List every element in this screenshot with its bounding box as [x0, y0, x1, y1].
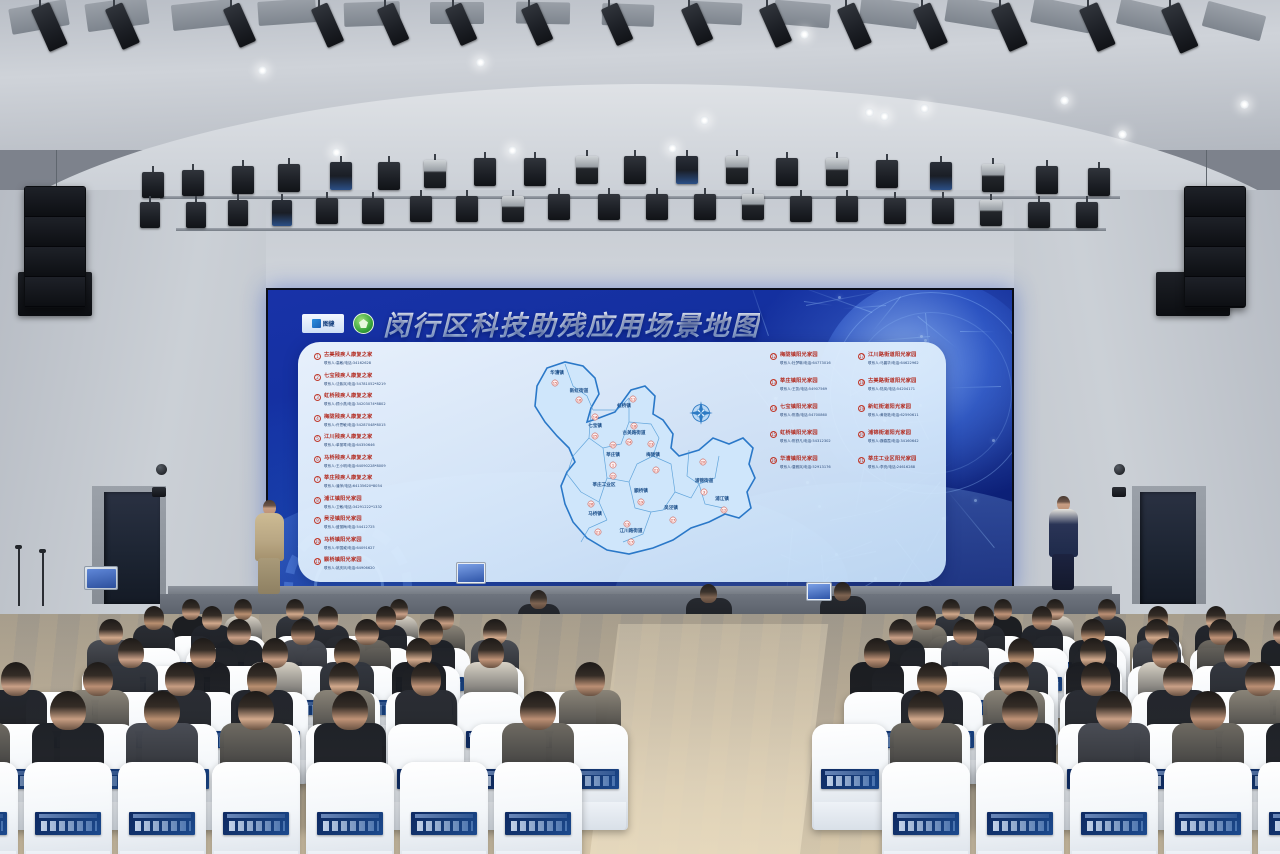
map-pin[interactable]: 11	[630, 396, 636, 402]
stage-light-fixture	[680, 0, 698, 48]
stage-light-fixture	[836, 190, 858, 224]
legend-entry[interactable]: 21莘庄工业区阳光家园联系人:李亮/电话:24616288	[858, 456, 946, 470]
audience-member-head	[286, 599, 304, 620]
audience-member-head	[575, 662, 605, 696]
chair-placard	[35, 812, 102, 835]
ceiling-downlight	[880, 112, 889, 121]
led-display-screen: 图健 闵行区科技助残应用场景地图 1古美残疾人康复之家联系人:高敏/电话:341…	[266, 288, 1014, 594]
audience-member-head	[118, 638, 144, 668]
stage-light-fixture	[410, 190, 432, 224]
stage-light-fixture	[646, 188, 668, 222]
audience-member-head	[234, 599, 252, 620]
legend-entry-number: 20	[858, 431, 865, 438]
map-pin-number: 3	[703, 490, 705, 494]
audience-chair[interactable]	[1070, 762, 1158, 854]
right-doorway[interactable]	[1140, 492, 1196, 604]
audience-member-head	[908, 691, 943, 730]
chair-placard	[505, 812, 572, 835]
legend-entry-number: 18	[858, 379, 865, 386]
stage-light-fixture	[624, 150, 646, 186]
map-svg: 华漕镇新虹街道虹桥镇七宝镇古美路街道莘庄镇梅陇镇浦锦街道莘庄工业区颛桥镇浦江镇马…	[503, 352, 763, 577]
ceiling-downlight	[920, 104, 929, 113]
speaker-rig	[56, 150, 57, 188]
chair-placard	[0, 812, 7, 835]
map-pin-number: 20	[701, 460, 706, 464]
map-pin[interactable]: 3	[701, 489, 707, 495]
legend-entry-number: 21	[858, 457, 865, 464]
map-pin-number: 14	[593, 415, 598, 419]
ceiling-downlight	[508, 146, 517, 155]
stage-light-fixture	[182, 164, 204, 198]
audience-member-head	[478, 638, 504, 668]
legend-entry-contact: 联系人:李亮/电话:24616288	[868, 464, 946, 470]
audience-member-head	[318, 606, 339, 629]
stage-light-fixture	[376, 0, 394, 48]
chair-placard	[893, 812, 960, 835]
audience-member-head	[1224, 638, 1250, 668]
stage-light-fixture	[378, 156, 400, 192]
stage-light-fixture	[982, 158, 1004, 194]
map-pin-number: 13	[625, 522, 630, 526]
presenter-torso	[1049, 509, 1078, 557]
page-title: 闵行区科技助残应用场景地图	[383, 304, 760, 343]
map-pin[interactable]: 20	[700, 459, 706, 465]
stage-light-fixture	[30, 0, 50, 54]
audience-chair[interactable]	[0, 762, 18, 854]
legend-entry-title: 古美路街道阳光家园	[868, 378, 917, 385]
map-town-label: 马桥镇	[588, 510, 602, 517]
audience-chair[interactable]	[306, 762, 394, 854]
chair-placard	[987, 812, 1054, 835]
stage-light-fixture	[186, 196, 206, 230]
map-town-label: 华漕镇	[550, 369, 564, 376]
audience-member-head	[1032, 606, 1053, 629]
map-pin-number: 26	[589, 502, 594, 506]
mesh-line	[960, 331, 996, 332]
ceiling-downlight	[476, 58, 485, 67]
speaker-rig	[1206, 150, 1207, 188]
stage-light-fixture	[694, 188, 716, 222]
chair-placard	[317, 812, 384, 835]
map-pin[interactable]: 13	[624, 521, 630, 527]
legend-entry-title: 浦锦街道阳光家园	[868, 430, 911, 437]
microphone-stand	[42, 552, 44, 606]
audience-member-head	[144, 606, 165, 629]
legend-entry-title: 莘庄工业区阳光家园	[868, 456, 917, 463]
stage-light-fixture	[548, 188, 570, 222]
stage-light-fixture	[424, 154, 446, 190]
audience-member-head	[50, 691, 85, 730]
audience-member-head	[1096, 691, 1131, 730]
cctv-camera-icon	[152, 487, 166, 497]
microphone-head	[39, 549, 46, 553]
audience-member-head	[864, 638, 890, 668]
stage-light-fixture	[576, 150, 598, 186]
audience-chair[interactable]	[400, 762, 488, 854]
map-town-label: 江川路街道	[620, 527, 643, 534]
map-pin-number: 1	[612, 463, 614, 467]
front-row-guest-head	[700, 584, 717, 603]
stage-light-fixture	[912, 0, 931, 52]
ceiling-downlight	[865, 108, 874, 117]
map-town-label: 浦江镇	[715, 495, 729, 502]
stage-light-fixture	[600, 0, 618, 48]
map-pin[interactable]: 25	[592, 433, 598, 439]
audience-member-head	[182, 599, 200, 620]
phone-recording[interactable]	[456, 562, 486, 584]
stage-light-fixture	[330, 156, 352, 192]
audience-chair[interactable]	[118, 762, 206, 854]
presenter-left	[252, 500, 286, 596]
stage-light-fixture	[726, 150, 748, 186]
legend-entry[interactable]: 19新虹街道阳光家园联系人:黄艳艳/电话:62590611	[858, 404, 946, 418]
audience-member-head	[190, 638, 216, 668]
district-outline	[535, 362, 755, 554]
audience-member-head	[1190, 691, 1225, 730]
cctv-dome-icon	[156, 464, 167, 475]
map-pin[interactable]: 1	[610, 462, 616, 468]
content-panel: 1古美残疾人康复之家联系人:高敏/电话:341626282七宝残疾人康复之家联系…	[298, 342, 946, 582]
stage-light-fixture	[232, 160, 254, 196]
audience-member-head	[227, 619, 250, 645]
ceiling-downlight	[1060, 96, 1069, 105]
screen-title-row: 图健 闵行区科技助残应用场景地图	[302, 304, 760, 343]
legend-entry[interactable]: 17江川路街道阳光家园联系人:马晨华/电话:64622962	[858, 352, 946, 366]
stage-light-fixture	[456, 190, 478, 224]
stage-light-fixture	[884, 192, 906, 226]
map-pin[interactable]: 18	[631, 423, 637, 429]
stage-light-fixture	[1078, 0, 1098, 54]
map-pin-number: 19	[639, 500, 644, 504]
stage-light-fixture	[1076, 196, 1098, 230]
stage-light-fixture	[310, 0, 328, 50]
mesh-line	[871, 297, 901, 334]
audience-member-head	[83, 662, 113, 696]
stage-light-fixture	[520, 0, 538, 48]
audience-member-head	[144, 691, 179, 730]
map-pin-number: 22	[611, 474, 616, 478]
audience-member-head	[332, 691, 367, 730]
legend-entry-number: 17	[858, 353, 865, 360]
legend-entry-contact: 联系人:魏春霞/电话:34160642	[868, 438, 946, 444]
chair-placard	[1175, 812, 1242, 835]
audience-member-head	[994, 599, 1012, 620]
map-pin-number: 21	[596, 530, 601, 534]
audience-member-head	[355, 619, 378, 645]
lighting-truss-lower	[176, 228, 1106, 231]
stage-light-fixture	[676, 150, 698, 186]
map-pin[interactable]: 27	[670, 517, 676, 523]
map-pin-number: 16	[577, 398, 582, 402]
stage-light-fixture	[990, 0, 1010, 54]
mesh-line	[946, 386, 1001, 388]
chair-placard	[1081, 812, 1148, 835]
presenter-lower	[258, 558, 280, 594]
legend-entry-number: 19	[858, 405, 865, 412]
audience-member-head	[1098, 599, 1116, 620]
compass-rose-icon	[688, 400, 714, 426]
stage-light-fixture	[524, 152, 546, 188]
map-pin[interactable]: 22	[610, 473, 616, 479]
tablet-recording[interactable]	[84, 566, 118, 590]
mesh-node	[920, 335, 923, 338]
audience-chair[interactable]	[494, 762, 582, 854]
audience-member-head	[238, 691, 273, 730]
stage-light-fixture	[104, 0, 123, 52]
audience-chair[interactable]	[24, 762, 112, 854]
presenter-right	[1046, 496, 1080, 596]
presenter-lower	[1052, 554, 1074, 590]
stage-light-fixture	[1036, 160, 1058, 196]
legend-entry[interactable]: 18古美路街道阳光家园联系人:陆岚/电话:54204171	[858, 378, 946, 392]
map-pin-number: 25	[593, 434, 598, 438]
stage-light-fixture	[140, 196, 160, 230]
stage-light-fixture	[142, 166, 164, 200]
stage-light-fixture	[1088, 162, 1110, 198]
map-pin-number: 27	[671, 518, 676, 522]
ceiling-downlight	[1118, 130, 1127, 139]
audience-member-head	[520, 691, 555, 730]
mesh-node	[838, 296, 841, 299]
legend-entry-title: 江川路街道阳光家园	[868, 352, 917, 359]
map-town-label: 古美路街道	[623, 429, 646, 436]
stage-light-fixture	[790, 190, 812, 224]
stage-light-fixture	[758, 0, 776, 50]
map-pin[interactable]: 19	[638, 499, 644, 505]
map-town-label: 吴泾镇	[664, 504, 678, 511]
mesh-node	[992, 439, 995, 442]
map-town-label: 颛桥镇	[634, 487, 648, 494]
map-pin-number: 23	[649, 442, 654, 446]
ceiling-downlight	[700, 116, 709, 125]
map-pin-number: 12	[722, 508, 727, 512]
map-pin[interactable]: 15	[552, 380, 558, 386]
audience-chair[interactable]	[882, 762, 970, 854]
audience-member-head	[376, 606, 397, 629]
minhang-district-map: 华漕镇新虹街道虹桥镇七宝镇古美路街道莘庄镇梅陇镇浦锦街道莘庄工业区颛桥镇浦江镇马…	[503, 352, 763, 577]
ceiling-downlight	[258, 66, 267, 75]
audience-member-head	[165, 662, 195, 696]
audience-chair[interactable]	[1258, 762, 1280, 854]
chair-placard	[1269, 812, 1280, 835]
stage-light-fixture	[1028, 196, 1050, 230]
audience-member-head	[1245, 662, 1275, 696]
phone-recording[interactable]	[806, 582, 832, 601]
stage-light-fixture	[876, 154, 898, 190]
map-pin[interactable]: 21	[595, 529, 601, 535]
map-pin[interactable]: 21	[653, 467, 659, 473]
ceiling-downlight	[800, 30, 809, 39]
map-pin-number: 11	[631, 397, 636, 401]
audience-chair[interactable]	[1164, 762, 1252, 854]
map-town-label: 莘庄工业区	[593, 481, 616, 488]
stage-light-fixture	[444, 0, 462, 48]
map-town-label: 虹桥镇	[617, 402, 631, 409]
map-pin-number: 20	[611, 443, 616, 447]
chair-placard	[223, 812, 290, 835]
audience-member-head	[974, 606, 995, 629]
map-pin-number: 21	[654, 468, 659, 472]
audience-member-head	[1163, 662, 1193, 696]
stage-light-fixture	[474, 152, 496, 188]
map-pin-number: 15	[553, 381, 558, 385]
audience-chair[interactable]	[812, 724, 888, 830]
chair-placard	[129, 812, 196, 835]
stage-light-fixture	[836, 0, 855, 52]
map-pin-number: 17	[629, 540, 634, 544]
audience-member-head	[411, 662, 441, 696]
stage-light-fixture	[932, 192, 954, 226]
legend-entry-contact: 联系人:陆岚/电话:54204171	[868, 386, 946, 392]
map-pin-number: 18	[632, 424, 637, 428]
lighting-truss-upper	[160, 196, 1120, 199]
legend-entry-title: 新虹街道阳光家园	[868, 404, 911, 411]
legend-entry-contact: 联系人:黄艳艳/电话:62590611	[868, 412, 946, 418]
stage-light-fixture	[1160, 0, 1180, 56]
stage-light-fixture	[598, 188, 620, 222]
audience-member-head	[942, 599, 960, 620]
map-pin[interactable]: 16	[576, 397, 582, 403]
stage-light-fixture	[826, 152, 848, 188]
audience-member-head	[99, 619, 122, 645]
cctv-camera-icon	[1112, 487, 1126, 497]
audience-member-head	[1081, 662, 1111, 696]
map-pin[interactable]: 26	[588, 501, 594, 507]
stage-light-fixture	[272, 194, 292, 228]
legend-entry-contact: 联系人:马晨华/电话:64622962	[868, 360, 946, 366]
map-pin[interactable]: 20	[610, 442, 616, 448]
stage-light-fixture	[316, 192, 338, 226]
stage-light-fixture	[362, 192, 384, 226]
map-pin[interactable]: 12	[721, 507, 727, 513]
front-row-guest-head	[834, 582, 851, 601]
map-town-label: 浦锦街道	[695, 477, 714, 484]
audience-member-head	[202, 606, 223, 629]
map-pin-number: 24	[627, 440, 632, 444]
map-town-label: 七宝镇	[588, 422, 602, 429]
line-array-speaker-right	[1184, 186, 1246, 308]
audience-chair[interactable]	[212, 762, 300, 854]
stage-light-fixture	[502, 190, 524, 224]
map-pin[interactable]: 14	[592, 414, 598, 420]
stage-light-fixture	[776, 152, 798, 188]
map-pin[interactable]: 24	[626, 439, 632, 445]
logo-text: 图健	[323, 319, 334, 328]
stage-light-fixture	[980, 194, 1002, 228]
ceiling-downlight	[1240, 100, 1249, 109]
microphone-head	[15, 545, 22, 549]
audience-member-head	[1002, 691, 1037, 730]
chair-placard	[821, 769, 879, 789]
stage-light-fixture	[278, 158, 300, 194]
microphone-stand	[18, 548, 20, 606]
stage-light-fixture	[222, 0, 240, 50]
presenter-torso	[255, 513, 284, 561]
legend-entry[interactable]: 20浦锦街道阳光家园联系人:魏春霞/电话:34160642	[858, 430, 946, 444]
map-town-label: 梅陇镇	[646, 451, 660, 458]
stage-light-fixture	[228, 194, 248, 228]
stage-light-fixture	[930, 156, 952, 192]
disabled-federation-emblem	[353, 313, 374, 334]
conference-hall-photo: 图健 闵行区科技助残应用场景地图 1古美残疾人康复之家联系人:高敏/电话:341…	[0, 0, 1280, 854]
map-town-label: 莘庄镇	[606, 451, 620, 458]
audience-member-head	[1, 662, 31, 696]
audience-member-head	[953, 619, 976, 645]
cctv-dome-icon	[1114, 464, 1125, 475]
line-array-speaker-left	[24, 186, 86, 308]
audience-chair[interactable]	[976, 762, 1064, 854]
map-pin[interactable]: 23	[648, 441, 654, 447]
platform-logo: 图健	[302, 314, 344, 333]
audience-member-head	[889, 619, 912, 645]
audience-member-head	[291, 619, 314, 645]
audience-member-head	[916, 606, 937, 629]
ceiling-light-slot	[257, 0, 317, 26]
logo-square-icon	[312, 319, 321, 328]
stage-light-fixture	[742, 188, 764, 222]
map-pin[interactable]: 17	[628, 539, 634, 545]
front-row-guest-head	[530, 590, 547, 609]
chair-placard	[411, 812, 478, 835]
map-town-label: 新虹街道	[570, 387, 589, 394]
